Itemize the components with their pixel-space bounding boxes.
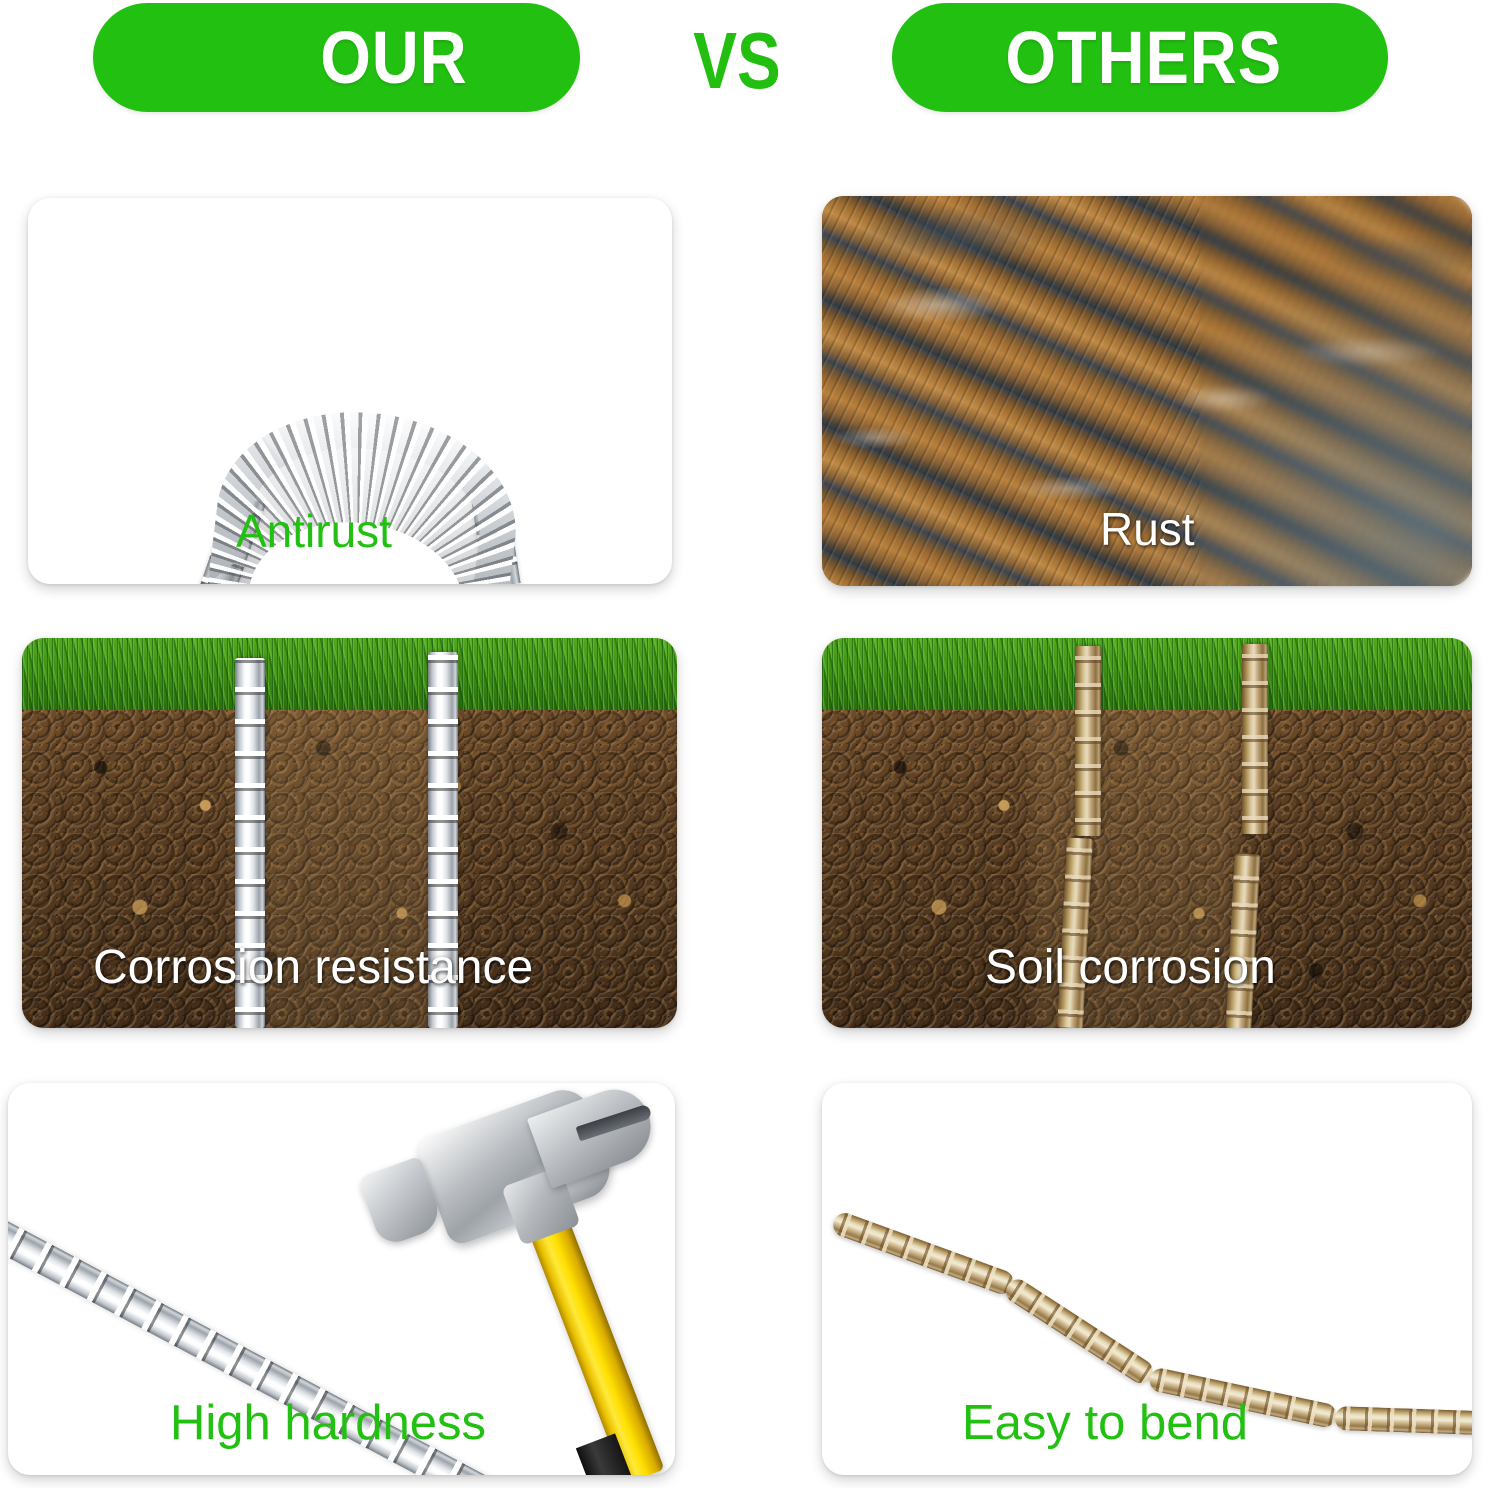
- others-badge-label: OTHERS: [998, 15, 1282, 100]
- our-badge: OUR: [93, 3, 580, 112]
- caption-corrosion-resistance: Corrosion resistance: [93, 940, 533, 995]
- bent-rebar-segment: [1001, 1275, 1157, 1388]
- caption-easy-to-bend: Easy to bend: [962, 1395, 1248, 1451]
- hammer-handle-icon: [521, 1198, 664, 1475]
- caption-high-hardness: High hardness: [170, 1395, 486, 1451]
- grass-layer: [22, 638, 677, 710]
- grass-layer: [822, 638, 1472, 710]
- caption-soil-corrosion: Soil corrosion: [985, 940, 1276, 995]
- others-badge: OTHERS: [892, 3, 1388, 112]
- caption-antirust: Antirust: [236, 504, 392, 558]
- header: OUR VS OTHERS: [0, 0, 1500, 125]
- comparison-infographic: OUR VS OTHERS Antirust Rust: [0, 0, 1500, 1488]
- bent-rebar-segment: [1335, 1406, 1472, 1437]
- rusted-stake-right-upper-icon: [1242, 644, 1268, 834]
- rusted-stake-left-upper-icon: [1075, 646, 1101, 836]
- our-badge-label: OUR: [206, 15, 468, 100]
- bent-rebar-segment: [830, 1210, 1017, 1298]
- rust-blur-layer: [1199, 196, 1472, 586]
- vs-label: VS: [684, 16, 791, 106]
- caption-rust: Rust: [1100, 502, 1195, 556]
